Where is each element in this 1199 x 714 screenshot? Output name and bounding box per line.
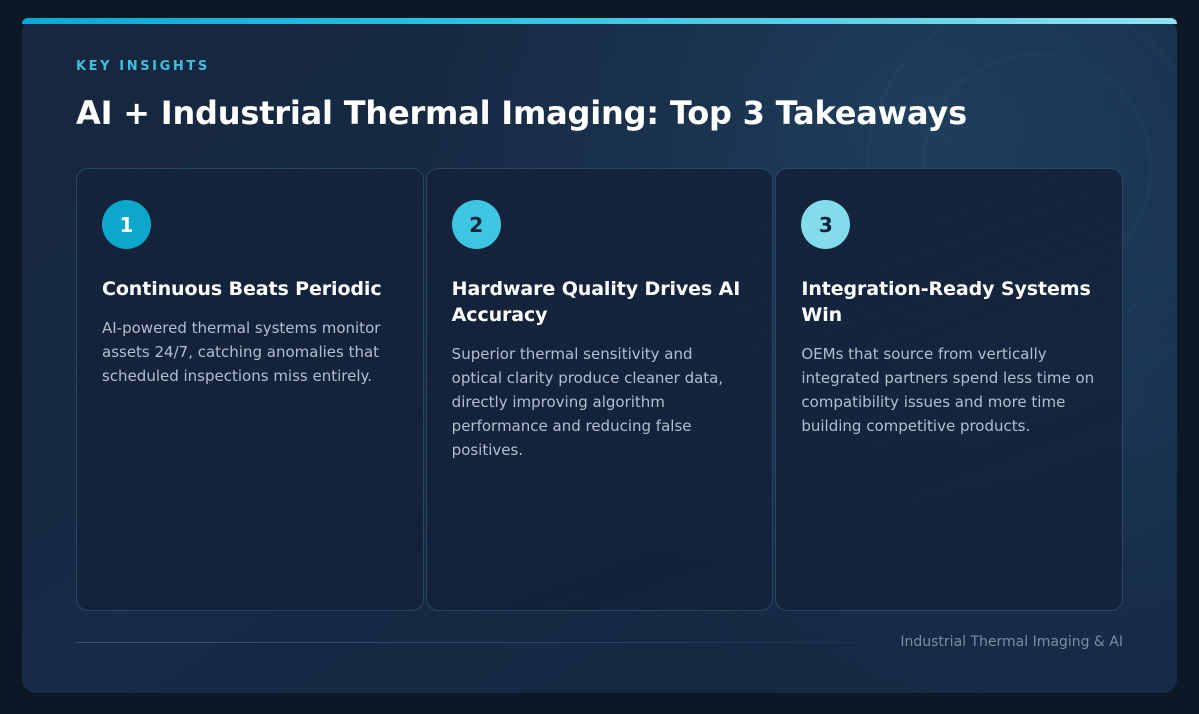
- card-body-text: AI-powered thermal systems monitor asset…: [102, 316, 398, 388]
- top-accent-bar: [22, 18, 1177, 24]
- slide-header: KEY INSIGHTS AI + Industrial Thermal Ima…: [76, 58, 1139, 133]
- card-number-badge: 1: [102, 200, 151, 249]
- card-title: Integration-Ready Systems Win: [801, 276, 1097, 328]
- card-title: Hardware Quality Drives AI Accuracy: [452, 276, 748, 328]
- takeaway-card: 3 Integration-Ready Systems Win OEMs tha…: [775, 168, 1123, 611]
- card-body-text: OEMs that source from vertically integra…: [801, 342, 1097, 438]
- card-body-text: Superior thermal sensitivity and optical…: [452, 342, 748, 462]
- card-number-badge: 3: [801, 200, 850, 249]
- takeaway-card: 2 Hardware Quality Drives AI Accuracy Su…: [426, 168, 774, 611]
- eyebrow-label: KEY INSIGHTS: [76, 58, 1139, 76]
- card-title: Continuous Beats Periodic: [102, 276, 398, 302]
- slide-footer: Industrial Thermal Imaging & AI: [76, 628, 1123, 656]
- page-title: AI + Industrial Thermal Imaging: Top 3 T…: [76, 93, 1139, 133]
- footer-label: Industrial Thermal Imaging & AI: [900, 632, 1123, 652]
- takeaway-card-list: 1 Continuous Beats Periodic AI-powered t…: [76, 168, 1123, 611]
- footer-divider: [76, 642, 882, 643]
- takeaway-card: 1 Continuous Beats Periodic AI-powered t…: [76, 168, 424, 611]
- card-number-badge: 2: [452, 200, 501, 249]
